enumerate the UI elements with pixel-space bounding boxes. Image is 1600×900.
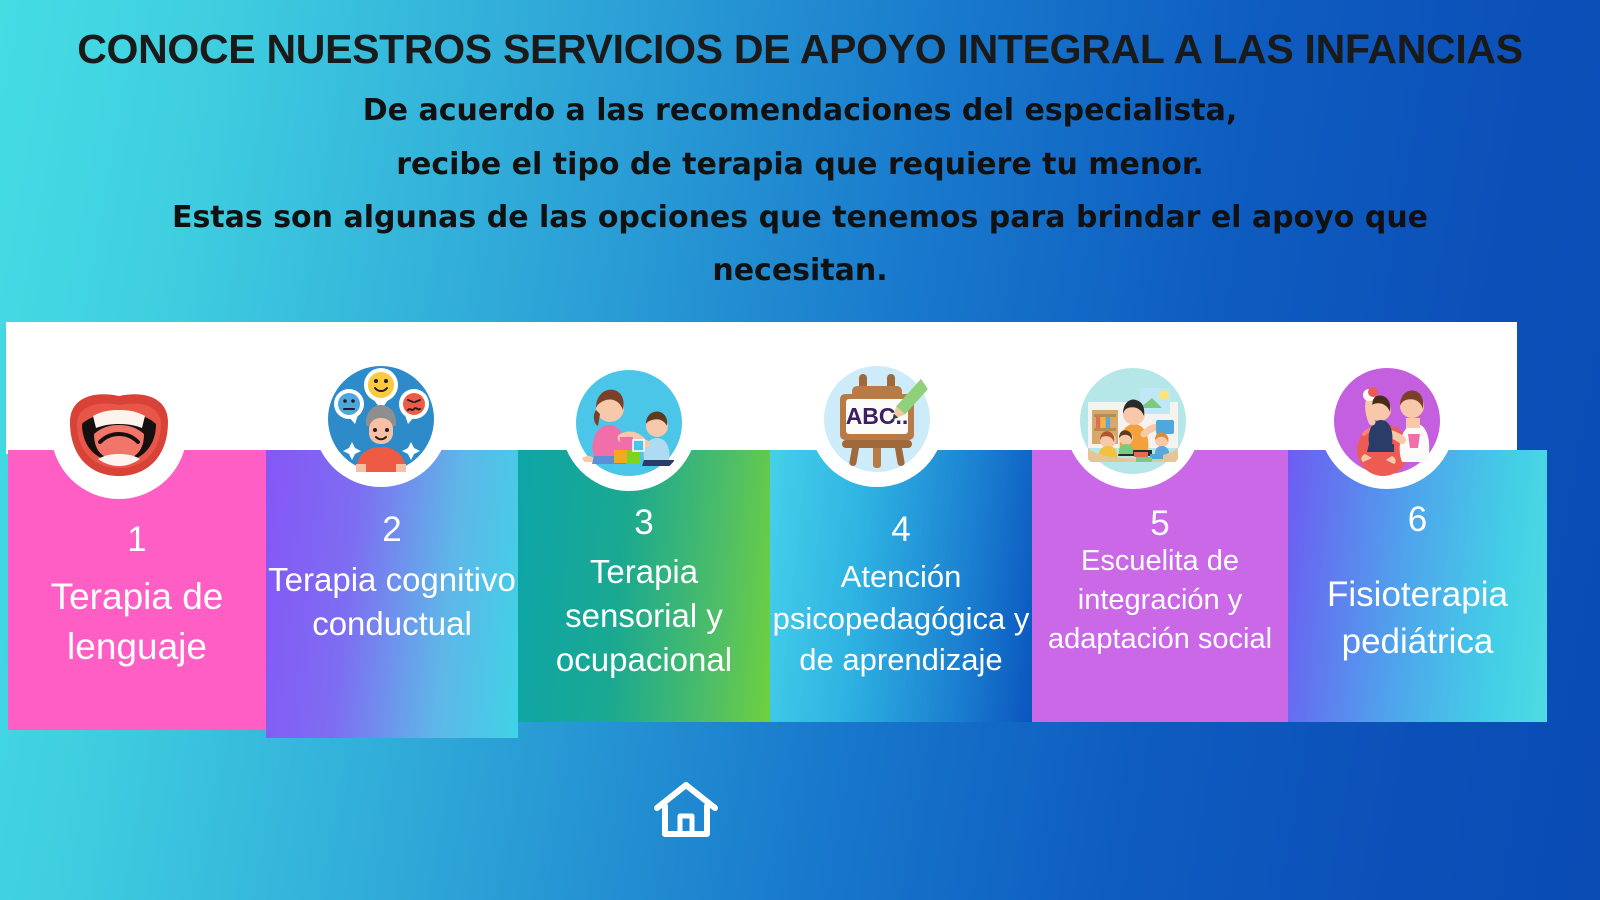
- service-label-1: Terapia de lenguaje: [8, 572, 266, 671]
- service-number-2: 2: [266, 512, 518, 547]
- service-label-3: Terapia sensorial y ocupacional: [518, 550, 770, 683]
- therapist-child-blocks-icon: [570, 364, 688, 482]
- open-mouth-icon: [60, 372, 178, 490]
- service-card-5[interactable]: 5 Escuelita de integración y adaptación …: [1032, 450, 1288, 722]
- service-label-6: Fisioterapia pediátrica: [1288, 572, 1547, 666]
- service-number-5: 5: [1032, 506, 1288, 541]
- service-card-2[interactable]: 2 Terapia cognitivo conductual: [266, 450, 518, 738]
- service-number-4: 4: [770, 512, 1032, 547]
- classroom-teacher-children-icon: [1074, 362, 1192, 480]
- service-number-3: 3: [518, 505, 770, 540]
- service-number-6: 6: [1288, 502, 1547, 537]
- physiotherapy-ball-icon: [1328, 362, 1446, 480]
- home-icon[interactable]: [652, 778, 720, 840]
- service-label-5: Escuelita de integración y adaptación so…: [1032, 542, 1288, 659]
- service-card-4[interactable]: 4 Atención psicopedagógica y de aprendiz…: [770, 450, 1032, 722]
- service-label-4: Atención psicopedagógica y de aprendizaj…: [770, 556, 1032, 681]
- service-card-6[interactable]: 6 Fisioterapia pediátrica: [1288, 450, 1547, 722]
- poster-canvas: CONOCE NUESTROS SERVICIOS DE APOYO INTEG…: [0, 0, 1600, 900]
- service-card-1[interactable]: 1 Terapia de lenguaje: [8, 450, 266, 730]
- service-number-1: 1: [8, 522, 266, 557]
- abc-easel-icon: ABC..: [818, 360, 936, 478]
- emotions-person-icon: [322, 360, 440, 478]
- services-strip: 1 Terapia de lenguaje 2 Terapia cognitiv…: [0, 0, 1600, 900]
- service-card-3[interactable]: 3 Terapia sensorial y ocupacional: [518, 450, 770, 722]
- service-label-2: Terapia cognitivo conductual: [266, 558, 518, 646]
